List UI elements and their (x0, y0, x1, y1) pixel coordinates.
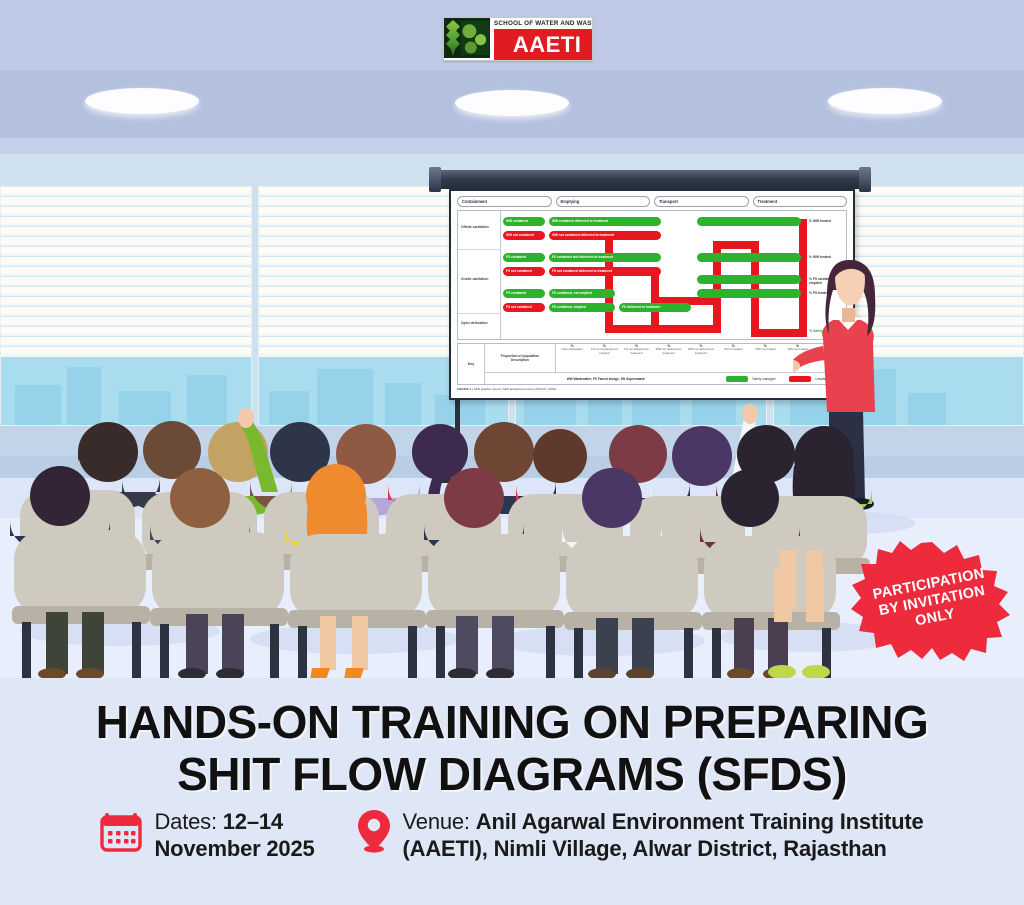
sfd-key-col: %Open defecation (556, 344, 588, 372)
dates-lead: Dates: (154, 809, 222, 834)
leaf-logo-icon (444, 18, 490, 58)
sfd-bar: WW not contained (503, 231, 545, 240)
sfd-bar-label: FS delivered to treatment (622, 305, 660, 309)
sfd-bar-label: WW contained (506, 219, 528, 223)
flow-pipe (605, 233, 613, 333)
event-meta: Dates: 12–14 November 2025 Venue: Anil A… (0, 808, 1024, 862)
poster-root: SCHOOL OF WATER AND WASTE AAETI (0, 0, 1024, 905)
sfd-right-label: % WW treated (809, 219, 843, 223)
sfd-bar: WW contained (503, 217, 545, 226)
sfd-bar-label: FS contained, emptied (552, 305, 586, 309)
bottom-panel: HANDS-ON TRAINING ON PREPARING SHIT FLOW… (0, 678, 1024, 905)
sfd-body: Offsite sanitation Onsite sanitation Ope… (457, 210, 847, 340)
presenter-top (822, 320, 875, 412)
dates-line-1: Dates: 12–14 (154, 808, 314, 835)
flow-pipe (605, 325, 717, 333)
sfd-key-desc: WW not delivered to treatment (653, 348, 685, 355)
sfd-col-emptying: Emptying (556, 196, 651, 207)
sfd-figure-number: FIGURE 1 (457, 387, 471, 391)
title-line-1: HANDS-ON TRAINING ON PREPARING (96, 696, 929, 748)
ceiling-light-3 (828, 88, 942, 114)
sfd-key-desc: Open defecation (562, 348, 583, 351)
raised-hand (742, 404, 758, 424)
chair (150, 532, 288, 680)
sfd-rowgroup-opendef: Open defecation (461, 321, 499, 325)
sfd-bar-label: FS contained, not emptied (552, 291, 592, 295)
sfd-key-description: Description (511, 358, 529, 362)
sfd-row-labels: Offsite sanitation Onsite sanitation Ope… (458, 211, 501, 339)
aaeti-logo: SCHOOL OF WATER AND WASTE AAETI (443, 17, 593, 61)
sfd-column-headers: Containment Emptying Transport Treatment (457, 196, 847, 207)
sfd-bar (697, 289, 801, 298)
sfd-key-col: %FS not delivered to treatment (620, 344, 652, 372)
sfd-key-col: %WW not delivered to treatment (685, 344, 717, 372)
title-line-2: SHIT FLOW DIAGRAMS (SFDS) (0, 748, 1024, 800)
calendar-icon (100, 810, 142, 852)
sfd-bar: FS contained and delivered to treatment (549, 253, 661, 262)
logo-subtitle: SCHOOL OF WATER AND WASTE (494, 20, 593, 28)
logo-name: AAETI (513, 34, 582, 56)
dates-block: Dates: 12–14 November 2025 (100, 808, 314, 862)
sfd-col-transport: Transport (654, 196, 749, 207)
sfd-bar-label: WW contained delivered to treatment (552, 219, 608, 223)
sfd-key-col: %FS not treated (717, 344, 749, 372)
dates-value-2: November 2025 (154, 835, 314, 862)
ceiling-lip (0, 138, 1024, 154)
sfd-bar: FS delivered to treatment (619, 303, 691, 312)
legend-label-safely: Safely managed (752, 377, 775, 381)
sfd-bar-label: FS not contained (506, 269, 532, 273)
sfd-key-col: %FS not contained not emptied (588, 344, 620, 372)
venue-line-1: Venue: Anil Agarwal Environment Training… (403, 808, 924, 835)
dates-text: Dates: 12–14 November 2025 (154, 808, 314, 862)
sfd-bar-label: FS contained (506, 291, 526, 295)
venue-lead: Venue: (403, 809, 476, 834)
sfd-key-desc: FS not delivered to treatment (620, 348, 652, 355)
legend-swatch-safely (726, 376, 748, 382)
invitation-badge: PARTICIPATION BY INVITATION ONLY (849, 540, 1015, 662)
window-1 (0, 186, 252, 426)
sfd-key-bottom-row: WW Wastewater, FS Faecal sludge, SN Supe… (485, 373, 846, 384)
brand-bar: SCHOOL OF WATER AND WASTE AAETI (0, 0, 1024, 70)
starburst-shape (849, 540, 1015, 662)
presenter-neck (842, 308, 855, 322)
sfd-key-desc: WW not delivered to treatment (685, 348, 717, 355)
logo-text-block: SCHOOL OF WATER AND WASTE AAETI (490, 18, 593, 60)
venue-block: Venue: Anil Agarwal Environment Training… (357, 808, 924, 862)
sfd-bar-label: WW not contained (506, 233, 534, 237)
sfd-bar (697, 253, 801, 262)
sfd-col-containment: Containment (457, 196, 552, 207)
sfd-key-top-row: Proportion of population Description %Op… (485, 344, 846, 373)
sfd-key-desc: FS not contained not emptied (588, 348, 620, 355)
divider (458, 249, 500, 250)
sfd-bar-label: FS not contained delivered to treatment (552, 269, 612, 273)
venue-value-1: Anil Agarwal Environment Training Instit… (476, 809, 924, 834)
sfd-bar: FS contained, not emptied (549, 289, 615, 298)
sfd-bar: FS contained (503, 253, 545, 262)
ceiling-light-2 (455, 90, 569, 116)
page-title: HANDS-ON TRAINING ON PREPARING SHIT FLOW… (0, 696, 1024, 800)
venue-text: Venue: Anil Agarwal Environment Training… (403, 808, 924, 862)
sfd-figure-caption-text: | SFD graphic used in SFD analytical pro… (472, 387, 556, 391)
ceiling-light-1 (85, 88, 199, 114)
sfd-bar (697, 275, 801, 284)
sfd-bar: FS not contained (503, 303, 545, 312)
sfd-key-desc: FS not treated (724, 348, 742, 351)
sfd-key-captions: Proportion of population Description (485, 344, 556, 372)
window-blinds-1 (1, 187, 251, 357)
sfd-bar: FS not contained delivered to treatment (549, 267, 661, 276)
sfd-rowgroup-offsite: Offsite sanitation (461, 225, 499, 229)
sfd-key-col: %WW not treated (749, 344, 781, 372)
sfd-bar-label: WW not contained delivered to treatment (552, 233, 614, 237)
sfd-bar: FS contained, emptied (549, 303, 615, 312)
map-pin-icon (357, 809, 391, 853)
sfd-abbrev-note: WW Wastewater, FS Faecal sludge, SN Supe… (489, 377, 722, 381)
divider (458, 313, 500, 314)
sfd-bar: FS contained (503, 289, 545, 298)
sfd-bar-label: FS not contained (506, 305, 532, 309)
sfd-key: Key Proportion of population Description… (457, 343, 847, 385)
sfd-bar: FS not contained (503, 267, 545, 276)
sfd-key-title: Key (458, 344, 485, 384)
sfd-col-treatment: Treatment (753, 196, 848, 207)
sfd-figure-caption: FIGURE 1 | SFD graphic used in SFD analy… (457, 387, 847, 391)
sfd-bar-label: FS contained (506, 255, 526, 259)
sfd-bar-label: FS contained and delivered to treatment (552, 255, 613, 259)
chair (12, 530, 150, 680)
sfd-key-body: Proportion of population Description %Op… (485, 344, 846, 384)
sfd-key-desc: WW not treated (755, 348, 775, 351)
logo-name-box: AAETI (494, 29, 593, 60)
sfd-key-col: %WW not delivered to treatment (653, 344, 685, 372)
sfd-bar: WW not contained delivered to treatment (549, 231, 661, 240)
sfd-rowgroup-onsite: Onsite sanitation (461, 277, 499, 281)
sfd-bar (697, 217, 801, 226)
sfd-bar: WW contained delivered to treatment (549, 217, 661, 226)
venue-value-2: (AAETI), Nimli Village, Alwar District, … (403, 835, 924, 862)
screen-roller-bar (435, 170, 865, 189)
dates-value-1: 12–14 (223, 809, 283, 834)
raised-hand (238, 408, 254, 428)
